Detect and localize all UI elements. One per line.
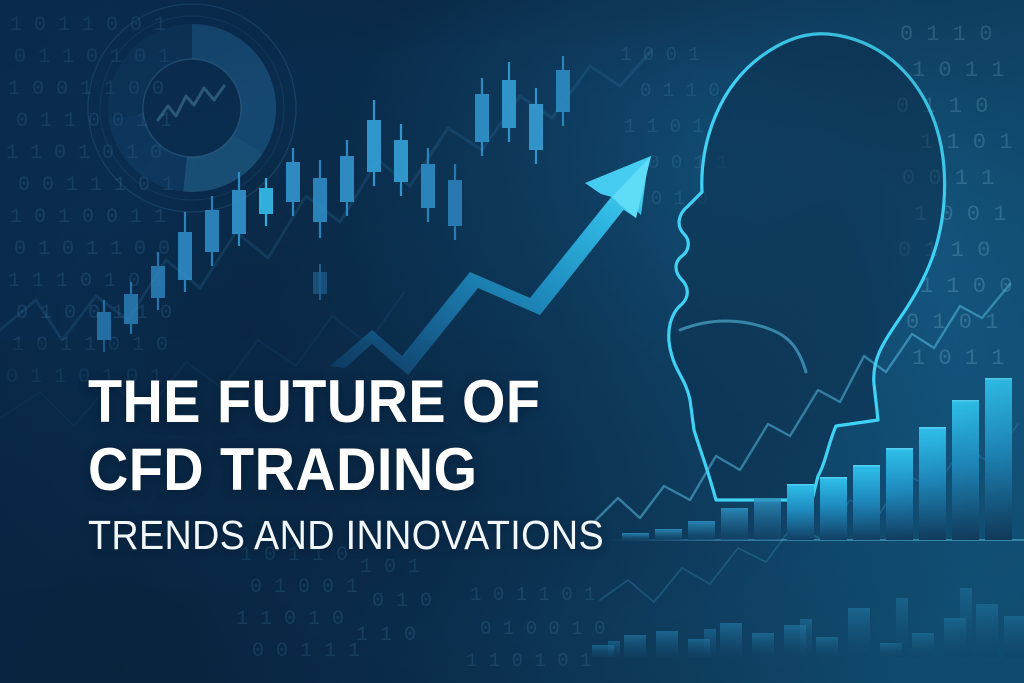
banner-root: 1 0 1 1 0 0 1 0 1 1 0 1 0 1 1 0 0 1 1 0 … (0, 0, 1024, 683)
vignette-overlay (0, 0, 1024, 683)
